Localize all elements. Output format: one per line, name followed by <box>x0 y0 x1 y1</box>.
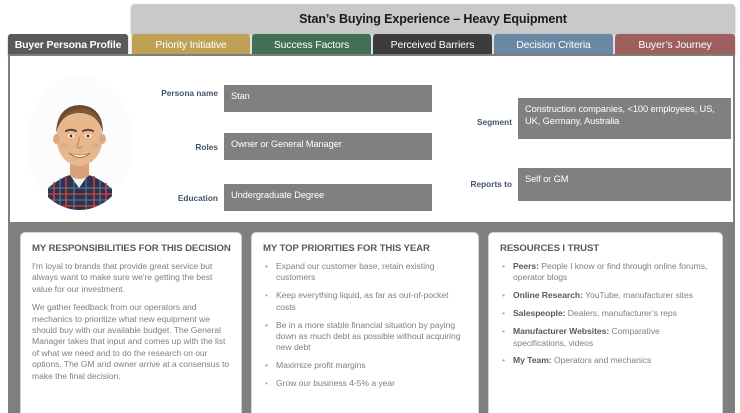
list-item: •Expand our customer base, retain existi… <box>263 261 467 284</box>
profile-field-label: Reports to <box>462 168 512 188</box>
tab-label: Buyer Persona Profile <box>15 39 122 51</box>
list-item-text: Operators and mechanics <box>552 355 652 365</box>
tab-priority-initiative[interactable]: Priority Initiative <box>132 34 250 55</box>
tab-bar: Buyer Persona ProfilePriority Initiative… <box>0 34 740 55</box>
panel-title: RESOURCES I TRUST <box>500 243 711 254</box>
panel-title: MY RESPONSIBILITIES FOR THIS DECISION <box>32 243 230 254</box>
list-item-lead: Salespeople: <box>513 308 565 318</box>
tab-label: Priority Initiative <box>155 39 226 51</box>
list-item: •Peers: People I know or find through on… <box>500 261 711 284</box>
page-title: Stan’s Buying Experience – Heavy Equipme… <box>131 4 735 34</box>
panel-paragraph: I'm loyal to brands that provide great s… <box>32 261 230 295</box>
bullet-icon: • <box>502 326 505 337</box>
profile-field-value[interactable]: Construction companies, <100 employees, … <box>518 98 731 139</box>
bullet-icon: • <box>502 261 505 272</box>
bullet-icon: • <box>502 308 505 319</box>
list-item-lead: Manufacturer Websites: <box>513 326 609 336</box>
bullet-icon: • <box>265 290 268 301</box>
bullet-icon: • <box>265 261 268 272</box>
tab-label: Buyer’s Journey <box>638 39 711 51</box>
bullet-icon: • <box>265 320 268 331</box>
tab-success-factors[interactable]: Success Factors <box>252 34 371 55</box>
list-item: •Be in a more stable financial situation… <box>263 320 467 354</box>
list-item-lead: Online Research: <box>513 290 583 300</box>
list-item: •Salespeople: Dealers, manufacturer’s re… <box>500 308 711 319</box>
panel-priorities: MY TOP PRIORITIES FOR THIS YEAR •Expand … <box>251 232 479 413</box>
profile-field-label: Persona name <box>148 85 218 97</box>
list-item: •Keep everything liquid, as far as out-o… <box>263 290 467 313</box>
profile-field-value[interactable]: Owner or General Manager <box>224 133 432 160</box>
tab-label: Success Factors <box>274 39 349 51</box>
profile-field-value[interactable]: Self or GM <box>518 168 731 201</box>
list-item-text: Dealers, manufacturer’s reps <box>565 308 676 318</box>
list-item-text: Be in a more stable financial situation … <box>276 320 460 353</box>
list-item: •My Team: Operators and mechanics <box>500 355 711 366</box>
profile-field-value[interactable]: Stan <box>224 85 432 112</box>
bullet-icon: • <box>502 290 505 301</box>
list-item-text: Expand our customer base, retain existin… <box>276 261 434 282</box>
list-item-text: Maximize profit margins <box>276 360 366 370</box>
list-item-text: Grow our business 4-5% a year <box>276 378 395 388</box>
avatar <box>26 73 133 213</box>
profile-field-label: Segment <box>462 98 512 126</box>
panel-title: MY TOP PRIORITIES FOR THIS YEAR <box>263 243 467 254</box>
avatar-illustration <box>26 76 133 210</box>
resources-list: •Peers: People I know or find through on… <box>500 261 711 367</box>
priorities-list: •Expand our customer base, retain existi… <box>263 261 467 390</box>
list-item-lead: My Team: <box>513 355 552 365</box>
tab-buyer-s-journey[interactable]: Buyer’s Journey <box>615 34 735 55</box>
tab-label: Perceived Barriers <box>391 39 475 51</box>
tab-label: Decision Criteria <box>516 39 590 51</box>
avatar-photo <box>26 76 133 210</box>
tab-buyer-persona-profile[interactable]: Buyer Persona Profile <box>8 34 128 55</box>
panel-paragraph: We gather feedback from our operators an… <box>32 302 230 382</box>
list-item-lead: Peers: <box>513 261 539 271</box>
profile-field: EducationUndergraduate Degree <box>148 184 438 211</box>
list-item-text: People I know or find through online for… <box>513 261 707 282</box>
list-item: •Manufacturer Websites: Comparative spec… <box>500 326 711 349</box>
tab-perceived-barriers[interactable]: Perceived Barriers <box>373 34 492 55</box>
bullet-icon: • <box>502 355 505 366</box>
list-item: •Maximize profit margins <box>263 360 467 371</box>
tab-decision-criteria[interactable]: Decision Criteria <box>494 34 613 55</box>
profile-field: Reports toSelf or GM <box>462 168 734 201</box>
profile-field: SegmentConstruction companies, <100 empl… <box>462 98 734 139</box>
list-item: •Grow our business 4-5% a year <box>263 378 467 389</box>
panel-resources: RESOURCES I TRUST •Peers: People I know … <box>488 232 723 413</box>
panel-responsibilities: MY RESPONSIBILITIES FOR THIS DECISION I'… <box>20 232 242 413</box>
list-item-text: Keep everything liquid, as far as out-of… <box>276 290 449 311</box>
profile-field-label: Roles <box>148 133 218 151</box>
buyer-persona-slide: Stan’s Buying Experience – Heavy Equipme… <box>0 0 740 413</box>
list-item: •Online Research: YouTube, manufacturer … <box>500 290 711 301</box>
profile-field: Persona nameStan <box>148 85 438 112</box>
profile-field-value[interactable]: Undergraduate Degree <box>224 184 432 211</box>
bullet-icon: • <box>265 360 268 371</box>
bullet-icon: • <box>265 378 268 389</box>
profile-field-label: Education <box>148 184 218 202</box>
list-item-text: YouTube, manufacturer sites <box>583 290 693 300</box>
detail-panels: MY RESPONSIBILITIES FOR THIS DECISION I'… <box>8 226 735 413</box>
profile-field: RolesOwner or General Manager <box>148 133 438 160</box>
